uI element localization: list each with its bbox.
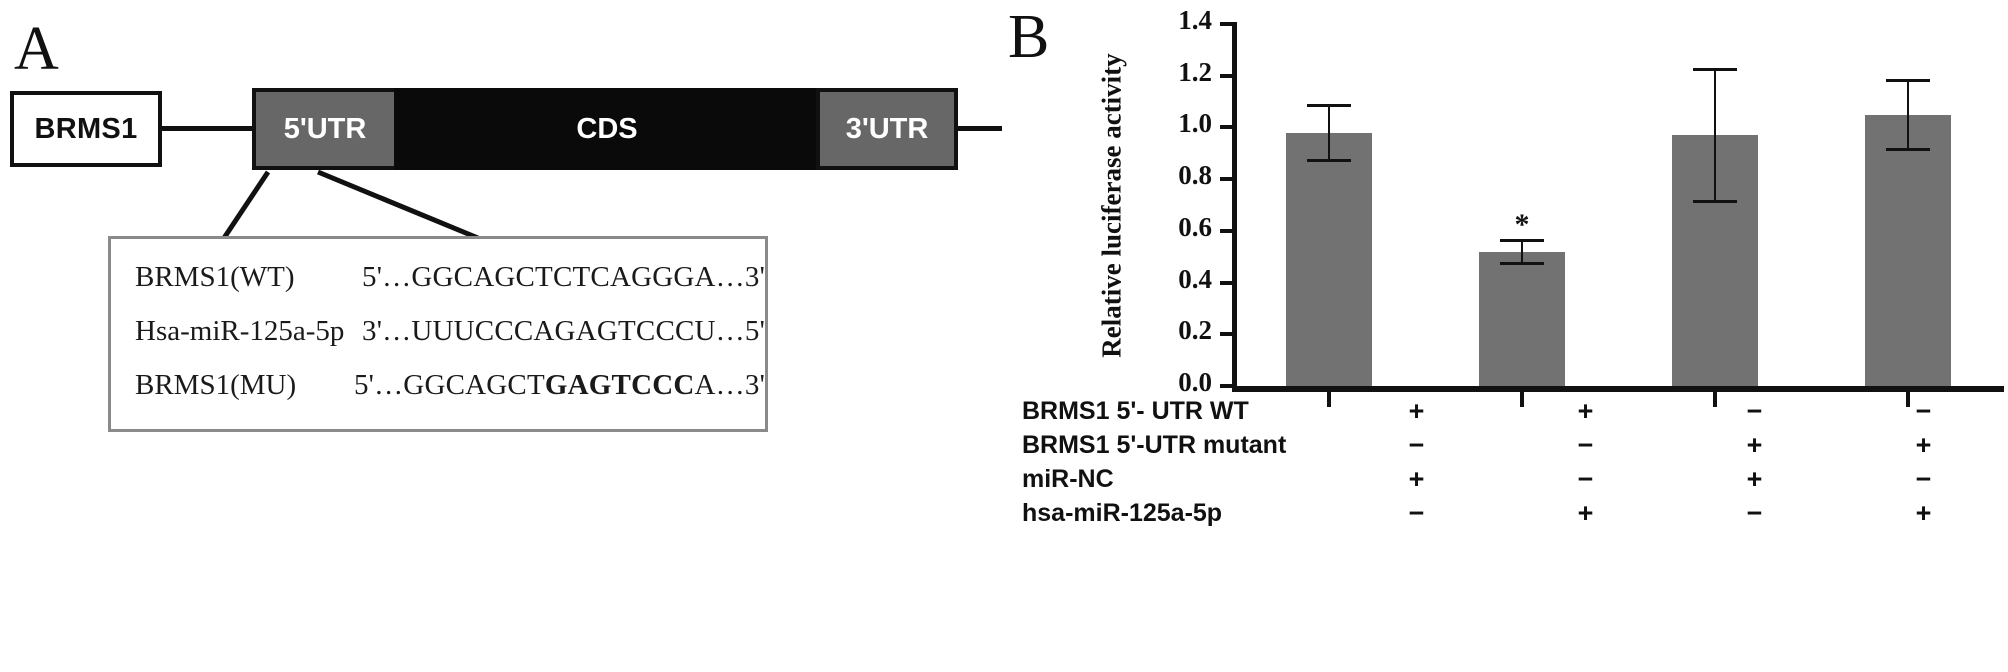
condition-cell: +	[1670, 430, 1839, 461]
error-bar	[1714, 69, 1716, 201]
y-axis-tick-label: 0.4	[1178, 264, 1212, 295]
condition-cell: −	[1839, 464, 2008, 495]
panel-b: B Relative luciferase activity 0.00.20.4…	[1000, 0, 2008, 672]
condition-cell: +	[1839, 498, 2008, 529]
condition-matrix: BRMS1 5'- UTR WT++−−BRMS1 5'-UTR mutant−…	[1008, 394, 2008, 530]
error-bar-cap	[1886, 148, 1930, 151]
sequence-prefix: 3'…UUUCCCAGAGTCCCU…5'	[362, 315, 765, 347]
sequence-alignment-box: BRMS1(WT) 5'…GGCAGCTCTCAGGGA…3' Hsa-miR-…	[108, 236, 768, 432]
y-axis-tick: 0.8	[1220, 177, 1237, 181]
condition-row-label: BRMS1 5'- UTR WT	[1008, 397, 1332, 426]
condition-cell: +	[1501, 498, 1670, 529]
bar	[1286, 133, 1372, 386]
sequence-row-value: 5'…GGCAGCTGAGTCCCA…3'	[354, 369, 765, 402]
y-axis-tick: 1.2	[1220, 74, 1237, 78]
y-axis-tick: 0.6	[1220, 229, 1237, 233]
utr3-region-box: 3'UTR	[816, 88, 958, 170]
condition-row: hsa-miR-125a-5p−+−+	[1008, 496, 2008, 530]
condition-cells: −+−+	[1332, 498, 2008, 529]
sequence-row-name: BRMS1(WT)	[111, 261, 362, 294]
sequence-row-name: Hsa-miR-125a-5p	[111, 315, 362, 348]
gene-name-box: BRMS1	[10, 91, 162, 167]
condition-cell: −	[1670, 498, 1839, 529]
connector-line-left	[162, 126, 262, 131]
connector-line-right	[954, 126, 1002, 131]
panel-a-letter: A	[14, 18, 59, 80]
error-bar-cap	[1693, 68, 1737, 71]
error-bar	[1328, 105, 1330, 159]
condition-row-label: hsa-miR-125a-5p	[1008, 499, 1332, 528]
condition-cell: −	[1670, 396, 1839, 427]
sequence-prefix: 5'…GGCAGCT	[362, 261, 553, 293]
bar-chart-plot: 0.00.20.40.60.81.01.21.4*	[1180, 10, 2008, 390]
sequence-suffix: A…3'	[695, 369, 765, 401]
panel-b-letter: B	[1008, 6, 1049, 68]
y-axis-tick: 1.4	[1220, 22, 1237, 26]
condition-cell: +	[1839, 430, 2008, 461]
error-bar-cap	[1307, 104, 1351, 107]
y-axis-tick-label: 0.2	[1178, 315, 1212, 346]
condition-row-label: BRMS1 5'-UTR mutant	[1008, 431, 1332, 460]
error-bar	[1521, 240, 1523, 263]
condition-cell: −	[1501, 464, 1670, 495]
error-bar-cap	[1886, 79, 1930, 82]
panel-a: A BRMS1 5'UTR CDS 3'UTR BRMS1(WT) 5'…GGC…	[0, 0, 1000, 672]
utr5-region-box: 5'UTR	[252, 88, 398, 170]
condition-cell: +	[1332, 464, 1501, 495]
error-bar	[1907, 80, 1909, 150]
condition-row: BRMS1 5'- UTR WT++−−	[1008, 394, 2008, 428]
condition-cell: −	[1839, 396, 2008, 427]
y-axis-tick-label: 1.0	[1178, 108, 1212, 139]
y-axis-tick: 0.0	[1220, 384, 1237, 388]
bar	[1479, 252, 1565, 386]
sequence-row: BRMS1(MU) 5'…GGCAGCTGAGTCCCA…3'	[111, 369, 765, 423]
condition-cell: +	[1670, 464, 1839, 495]
condition-row: miR-NC+−+−	[1008, 462, 2008, 496]
y-axis-title: Relative luciferase activity	[1097, 26, 1128, 386]
y-axis-tick: 0.2	[1220, 332, 1237, 336]
y-axis-tick-label: 0.8	[1178, 160, 1212, 191]
sequence-row-value: 5'…GGCAGCTCTCAGGGA…3'	[362, 261, 765, 294]
sequence-row: Hsa-miR-125a-5p 3'…UUUCCCAGAGTCCCU…5'	[111, 315, 765, 369]
significance-asterisk: *	[1515, 210, 1530, 240]
condition-cell: +	[1501, 396, 1670, 427]
sequence-row: BRMS1(WT) 5'…GGCAGCTCTCAGGGA…3'	[111, 261, 765, 315]
x-axis-line	[1232, 386, 2004, 392]
cds-region-box: CDS	[394, 88, 820, 170]
y-axis-tick: 1.0	[1220, 125, 1237, 129]
y-axis-tick-label: 0.6	[1178, 212, 1212, 243]
condition-cell: −	[1501, 430, 1670, 461]
sequence-row-name: BRMS1(MU)	[111, 369, 354, 402]
sequence-prefix: 5'…GGCAGCT	[354, 369, 545, 401]
condition-cell: −	[1332, 430, 1501, 461]
condition-cell: +	[1332, 396, 1501, 427]
sequence-seed: CTCAGGG	[553, 261, 695, 293]
sequence-row-value: 3'…UUUCCCAGAGTCCCU…5'	[362, 315, 765, 348]
condition-cells: +−+−	[1332, 464, 2008, 495]
condition-cells: −−++	[1332, 430, 2008, 461]
error-bar-cap	[1307, 159, 1351, 162]
sequence-suffix: A…3'	[695, 261, 765, 293]
y-axis-tick: 0.4	[1220, 281, 1237, 285]
condition-cell: −	[1332, 498, 1501, 529]
condition-row-label: miR-NC	[1008, 465, 1332, 494]
y-axis-tick-label: 1.4	[1178, 5, 1212, 36]
sequence-mutated-bases: GAGTCCC	[545, 369, 695, 401]
error-bar-cap	[1693, 200, 1737, 203]
error-bar-cap	[1500, 262, 1544, 265]
y-axis-tick-label: 1.2	[1178, 57, 1212, 88]
bar	[1865, 115, 1951, 387]
condition-cells: ++−−	[1332, 396, 2008, 427]
condition-row: BRMS1 5'-UTR mutant−−++	[1008, 428, 2008, 462]
